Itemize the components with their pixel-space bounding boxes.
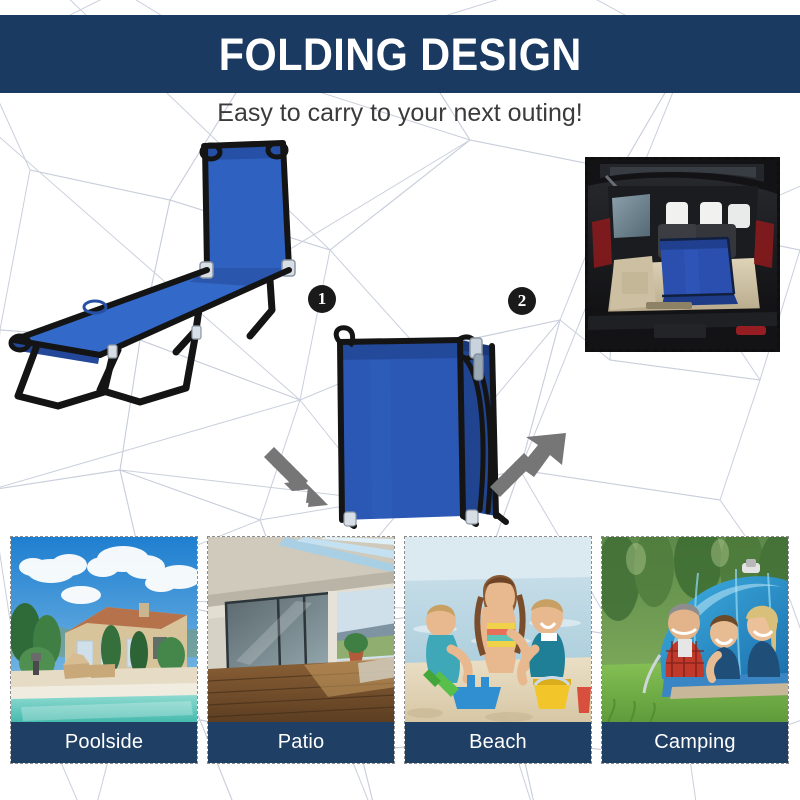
scenario-card-camping[interactable]: Camping [601,536,789,764]
beach-caption: Beach [405,722,591,763]
step-1-badge: 1 [308,285,336,313]
scenario-card-patio[interactable]: Patio [207,536,395,764]
scenario-card-beach[interactable]: Beach [404,536,592,764]
scenario-card-row: Poolside [10,536,790,764]
poolside-photo [11,537,197,724]
patio-caption: Patio [208,722,394,763]
suv-trunk-illustration [588,160,777,349]
open-lounger-illustration [0,140,310,410]
scenario-card-poolside[interactable]: Poolside [10,536,198,764]
poolside-caption: Poolside [11,722,197,763]
step-2-badge: 2 [508,287,536,315]
camping-photo [602,537,788,724]
folding-sequence-stage: 1 [0,135,800,530]
header-banner: FOLDING DESIGN [0,15,800,93]
page-subtitle: Easy to carry to your next outing! [0,99,800,128]
patio-photo [208,537,394,724]
beach-photo [405,537,591,724]
step-2-arrow-icon [488,425,576,501]
infographic-page: FOLDING DESIGN Easy to carry to your nex… [0,0,800,800]
camping-caption: Camping [602,722,788,763]
trunk-photo-frame [585,157,780,352]
step-1-arrow-icon [258,445,338,517]
page-title: FOLDING DESIGN [219,32,582,77]
